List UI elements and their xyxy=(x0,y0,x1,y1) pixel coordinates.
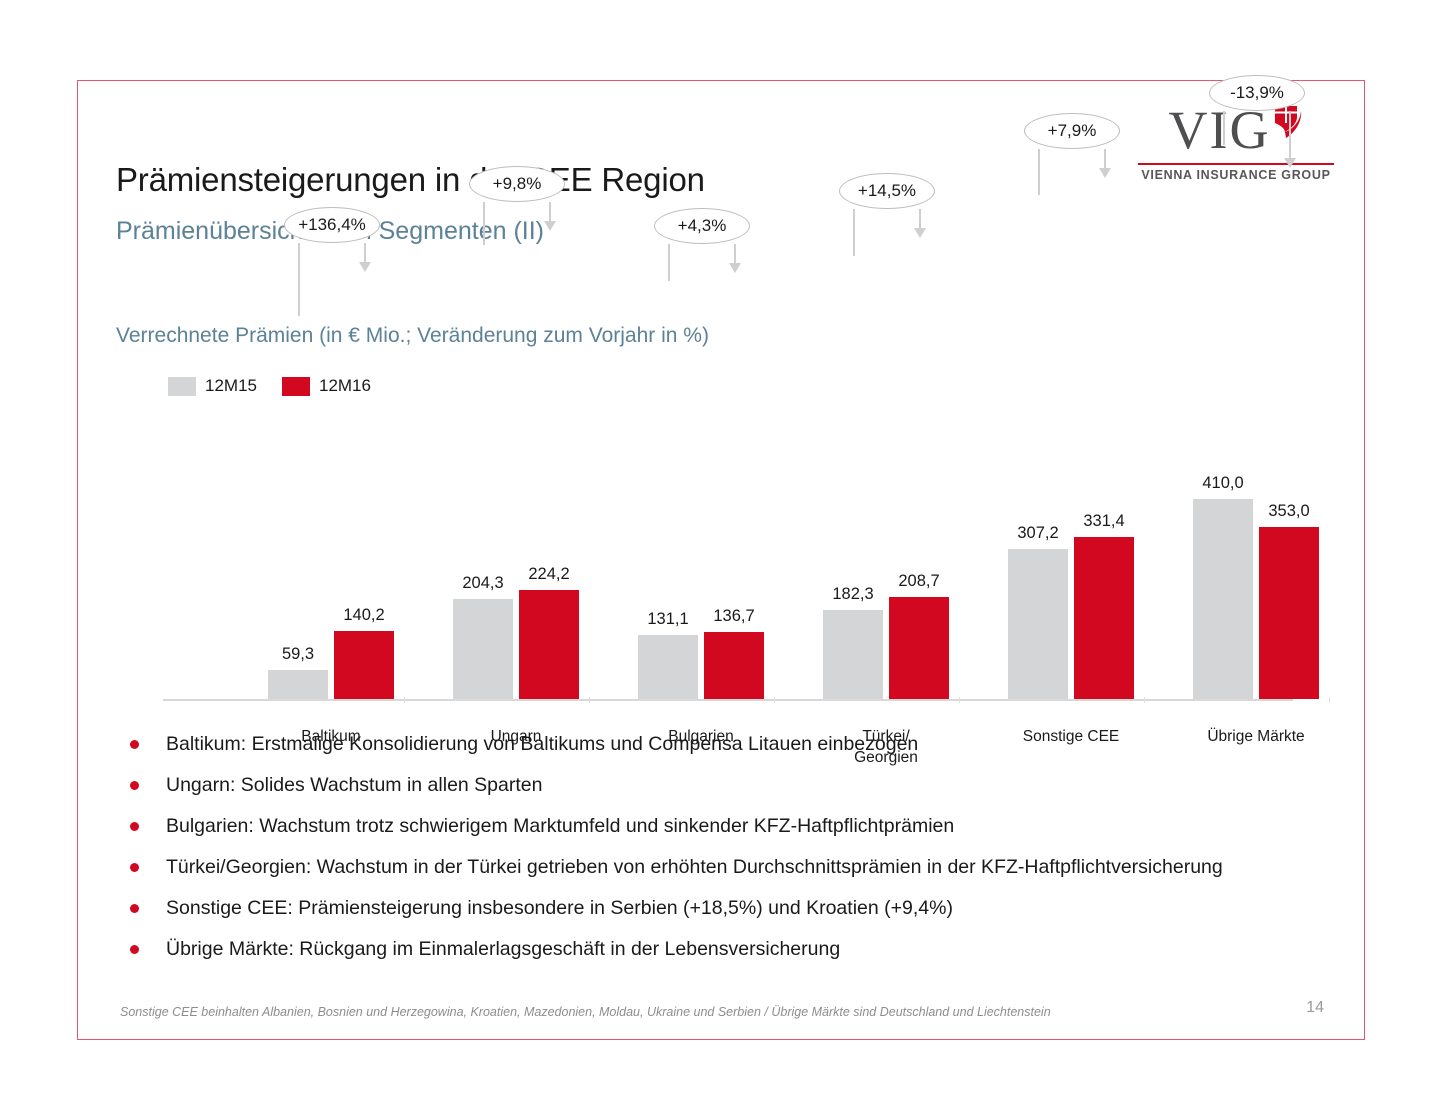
bar-value-label: 59,3 xyxy=(263,645,333,664)
bar-12m15 xyxy=(268,670,328,699)
bar-12m16 xyxy=(519,590,579,699)
bar-value-label: 140,2 xyxy=(329,606,399,625)
bar-value-label: 353,0 xyxy=(1254,502,1324,521)
slide: VIG VIENNA INSURANCE GROUP Prämiensteige… xyxy=(77,80,1365,1040)
bar-group: 131,1136,7+4,3% xyxy=(628,369,774,699)
axis-tick xyxy=(774,697,775,703)
axis-tick xyxy=(589,697,590,703)
bullet-dot-icon xyxy=(130,904,139,913)
bar-group: 59,3140,2+136,4% xyxy=(258,369,404,699)
callout-arrow xyxy=(919,209,921,229)
logo-wordmark: VIG xyxy=(1169,103,1271,157)
bullet-item: Bulgarien: Wachstum trotz schwierigem Ma… xyxy=(118,813,1318,840)
vig-logo: VIG VIENNA INSURANCE GROUP xyxy=(1138,103,1334,182)
axis-tick xyxy=(1144,697,1145,703)
bullet-item: Ungarn: Solides Wachstum in allen Sparte… xyxy=(118,772,1318,799)
callout-stem xyxy=(483,202,485,246)
growth-callout-label: +14,5% xyxy=(839,173,935,209)
bar-group: 204,3224,2+9,8% xyxy=(443,369,589,699)
bar-chart: 59,3140,2+136,4%Baltikum204,3224,2+9,8%U… xyxy=(163,371,1293,701)
callout-arrow xyxy=(364,243,366,263)
bullet-text: Sonstige CEE: Prämiensteigerung insbeson… xyxy=(166,895,953,922)
chart-heading: Verrechnete Prämien (in € Mio.; Veränder… xyxy=(116,324,709,348)
callout-stem xyxy=(1223,111,1225,145)
bar-value-label: 131,1 xyxy=(633,610,703,629)
bullet-item: Sonstige CEE: Prämiensteigerung insbeson… xyxy=(118,895,1318,922)
bar-12m15 xyxy=(823,610,883,699)
chart-axis-line xyxy=(163,699,1293,701)
footnote: Sonstige CEE beinhalten Albanien, Bosnie… xyxy=(120,1005,1051,1019)
bullet-dot-icon xyxy=(130,945,139,954)
bullet-dot-icon xyxy=(130,822,139,831)
axis-tick xyxy=(1329,697,1330,703)
bar-12m15 xyxy=(1193,499,1253,699)
bar-value-label: 410,0 xyxy=(1188,474,1258,493)
bullet-item: Übrige Märkte: Rückgang im Einmalerlagsg… xyxy=(118,936,1318,963)
logo-divider xyxy=(1138,163,1334,165)
bar-12m15 xyxy=(453,599,513,699)
growth-callout-label: +4,3% xyxy=(654,208,750,244)
bullet-text: Bulgarien: Wachstum trotz schwierigem Ma… xyxy=(166,813,954,840)
callout-stem xyxy=(853,209,855,256)
growth-callout-label: -13,9% xyxy=(1209,75,1305,111)
bar-value-label: 208,7 xyxy=(884,572,954,591)
page-title: Prämiensteigerungen in der CEE Region xyxy=(116,161,705,199)
bar-12m16 xyxy=(334,631,394,699)
bar-value-label: 136,7 xyxy=(699,607,769,626)
bullet-text: Übrige Märkte: Rückgang im Einmalerlagsg… xyxy=(166,936,840,963)
bullet-text: Ungarn: Solides Wachstum in allen Sparte… xyxy=(166,772,542,799)
bar-value-label: 182,3 xyxy=(818,585,888,604)
bullet-dot-icon xyxy=(130,740,139,749)
bar-value-label: 204,3 xyxy=(448,574,518,593)
callout-stem xyxy=(1038,149,1040,195)
axis-tick xyxy=(959,697,960,703)
bar-12m16 xyxy=(1259,527,1319,699)
callout-stem xyxy=(668,244,670,281)
bar-12m16 xyxy=(1074,537,1134,699)
bar-value-label: 224,2 xyxy=(514,565,584,584)
callout-arrow xyxy=(1104,149,1106,169)
callout-stem xyxy=(298,243,300,316)
bar-group: 307,2331,4+7,9% xyxy=(998,369,1144,699)
axis-tick xyxy=(404,697,405,703)
bar-12m15 xyxy=(1008,549,1068,699)
bar-value-label: 331,4 xyxy=(1069,512,1139,531)
bullet-list: Baltikum: Erstmalige Konsolidierung von … xyxy=(118,731,1318,977)
page-number: 14 xyxy=(1306,999,1324,1017)
callout-arrow xyxy=(734,244,736,264)
growth-callout-label: +136,4% xyxy=(284,207,380,243)
bullet-text: Türkei/Georgien: Wachstum in der Türkei … xyxy=(166,854,1223,881)
callout-arrow xyxy=(549,202,551,222)
logo-wordmark-row: VIG xyxy=(1138,103,1334,161)
bullet-dot-icon xyxy=(130,863,139,872)
growth-callout-label: +7,9% xyxy=(1024,113,1120,149)
bar-12m16 xyxy=(704,632,764,699)
logo-subtitle: VIENNA INSURANCE GROUP xyxy=(1138,168,1334,182)
bullet-item: Baltikum: Erstmalige Konsolidierung von … xyxy=(118,731,1318,758)
bar-group: 410,0353,0-13,9% xyxy=(1183,369,1329,699)
growth-callout-label: +9,8% xyxy=(469,166,565,202)
bullet-text: Baltikum: Erstmalige Konsolidierung von … xyxy=(166,731,918,758)
bar-value-label: 307,2 xyxy=(1003,524,1073,543)
bar-12m16 xyxy=(889,597,949,699)
bullet-dot-icon xyxy=(130,781,139,790)
bar-group: 182,3208,7+14,5% xyxy=(813,369,959,699)
bullet-item: Türkei/Georgien: Wachstum in der Türkei … xyxy=(118,854,1318,881)
bar-12m15 xyxy=(638,635,698,699)
callout-arrow xyxy=(1289,111,1291,159)
